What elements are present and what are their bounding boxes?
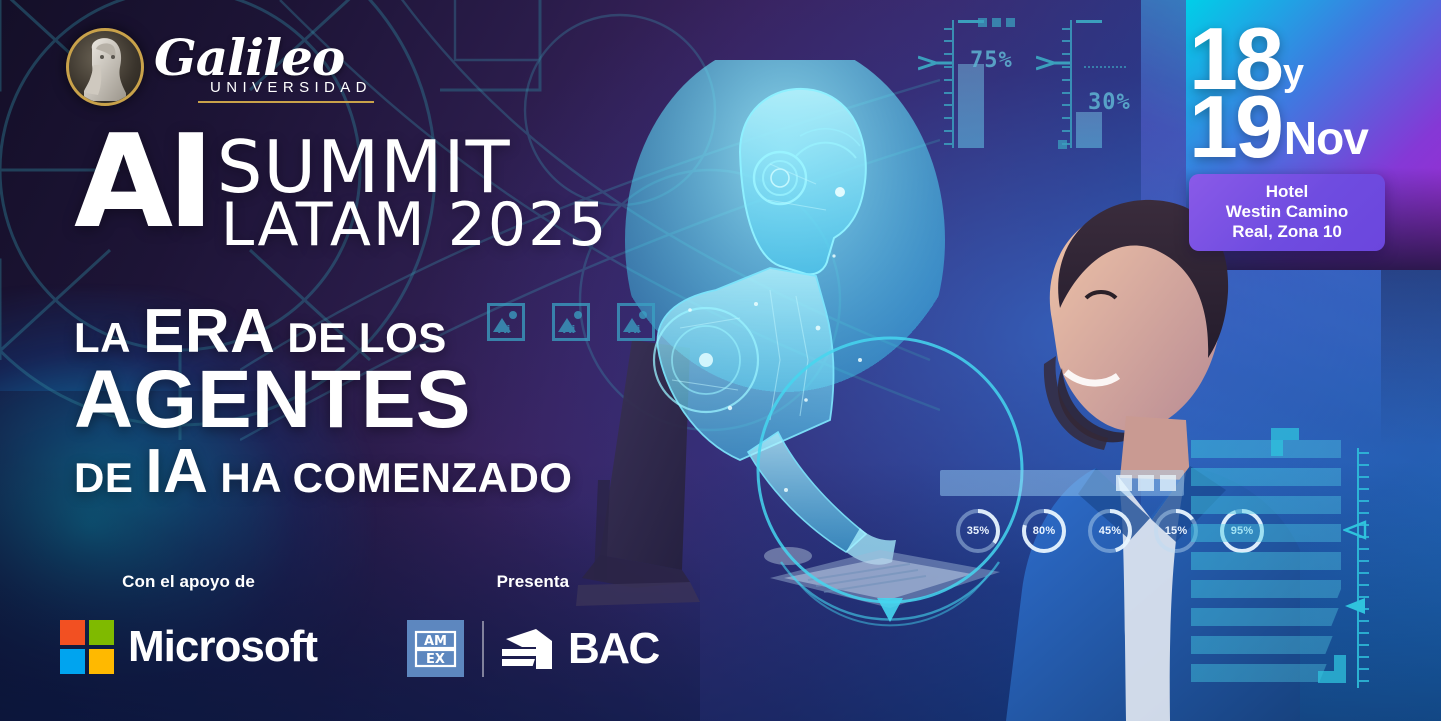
bac-house-icon xyxy=(502,625,556,673)
hud-dot-small xyxy=(1058,140,1067,149)
university-name: Galileo xyxy=(154,35,374,81)
percent-gauge: 35% xyxy=(952,505,1004,557)
university-logo[interactable]: Galileo UNIVERSIDAD xyxy=(66,28,374,106)
ruler-marker-solid xyxy=(1343,596,1367,616)
amex-logo[interactable]: AM EX xyxy=(407,620,464,677)
svg-text:EX: EX xyxy=(426,652,445,667)
title-ai: AI xyxy=(74,133,209,233)
event-tagline: LA ERA DE LOS AGENTES DE IA HA COMENZADO xyxy=(74,296,572,507)
microsoft-logo[interactable]: Microsoft xyxy=(60,620,317,674)
logo-gold-underline xyxy=(198,101,374,103)
event-date-panel: 18 y 19 Nov Hotel Westin Camino Real, Zo… xyxy=(1189,22,1389,251)
hud-dotted-line xyxy=(1084,66,1126,68)
event-title: AI SUMMIT LATAM 2025 xyxy=(74,133,608,254)
percent-gauge-value: 45% xyxy=(1084,505,1136,557)
sponsor-support-label: Con el apoyo de xyxy=(122,572,255,592)
hud-arrow-left xyxy=(918,53,952,73)
sponsor-divider xyxy=(482,621,484,677)
corner-bracket-bottom xyxy=(1318,655,1346,683)
tagline-ha-comenzado: HA COMENZADO xyxy=(220,454,572,502)
percent-gauge-value: 80% xyxy=(1018,505,1070,557)
date-day-2: 19 xyxy=(1189,90,1281,164)
tagline-ia: IA xyxy=(145,436,208,507)
hud-dots-left xyxy=(978,18,1015,27)
percent-gauge-value: 35% xyxy=(952,505,1004,557)
sponsor-group-presents: Presenta AM EX xyxy=(407,572,659,677)
title-latam-year: LATAM 2025 xyxy=(217,197,609,254)
hud-gauge-left: 75% xyxy=(952,20,998,148)
tagline-agentes: AGENTES xyxy=(74,361,470,440)
date-month: Nov xyxy=(1281,115,1368,164)
microsoft-squares-icon xyxy=(60,620,114,674)
svg-text:Ai: Ai xyxy=(628,323,640,336)
venue-line-1: Hotel xyxy=(1199,182,1375,202)
venue-badge: Hotel Westin Camino Real, Zona 10 xyxy=(1189,174,1385,251)
percent-gauge: 80% xyxy=(1018,505,1070,557)
sponsors-section: Con el apoyo de Microsoft Presenta xyxy=(60,572,659,677)
venue-line-2: Westin Camino xyxy=(1199,202,1375,222)
vertical-ruler-decoration xyxy=(1347,448,1369,688)
percent-gauge: 45% xyxy=(1084,505,1136,557)
corner-bracket-top xyxy=(1271,428,1299,456)
galileo-bust-icon xyxy=(66,28,144,106)
bac-logo[interactable]: BAC xyxy=(502,624,659,674)
gauge-right-value: 30% xyxy=(1088,90,1131,115)
hud-arrow-right xyxy=(1036,53,1070,73)
hud-screen-bar xyxy=(940,470,1184,496)
sponsor-group-support: Con el apoyo de Microsoft xyxy=(60,572,317,674)
title-summit: SUMMIT xyxy=(217,138,609,197)
ruler-marker-hollow xyxy=(1343,520,1367,540)
gauge-left-value: 75% xyxy=(970,48,1013,73)
sponsor-presents-label: Presenta xyxy=(497,572,570,592)
event-banner: 75% 30% Ai xyxy=(0,0,1441,721)
tagline-de: DE xyxy=(74,454,133,502)
venue-line-3: Real, Zona 10 xyxy=(1199,222,1375,242)
ai-image-icon: Ai xyxy=(617,303,655,341)
microsoft-wordmark: Microsoft xyxy=(128,622,317,672)
hud-gauge-right: 30% xyxy=(1070,20,1116,148)
date-conjunction: y xyxy=(1281,54,1304,96)
svg-text:AM: AM xyxy=(424,634,447,649)
bac-wordmark: BAC xyxy=(568,624,659,674)
